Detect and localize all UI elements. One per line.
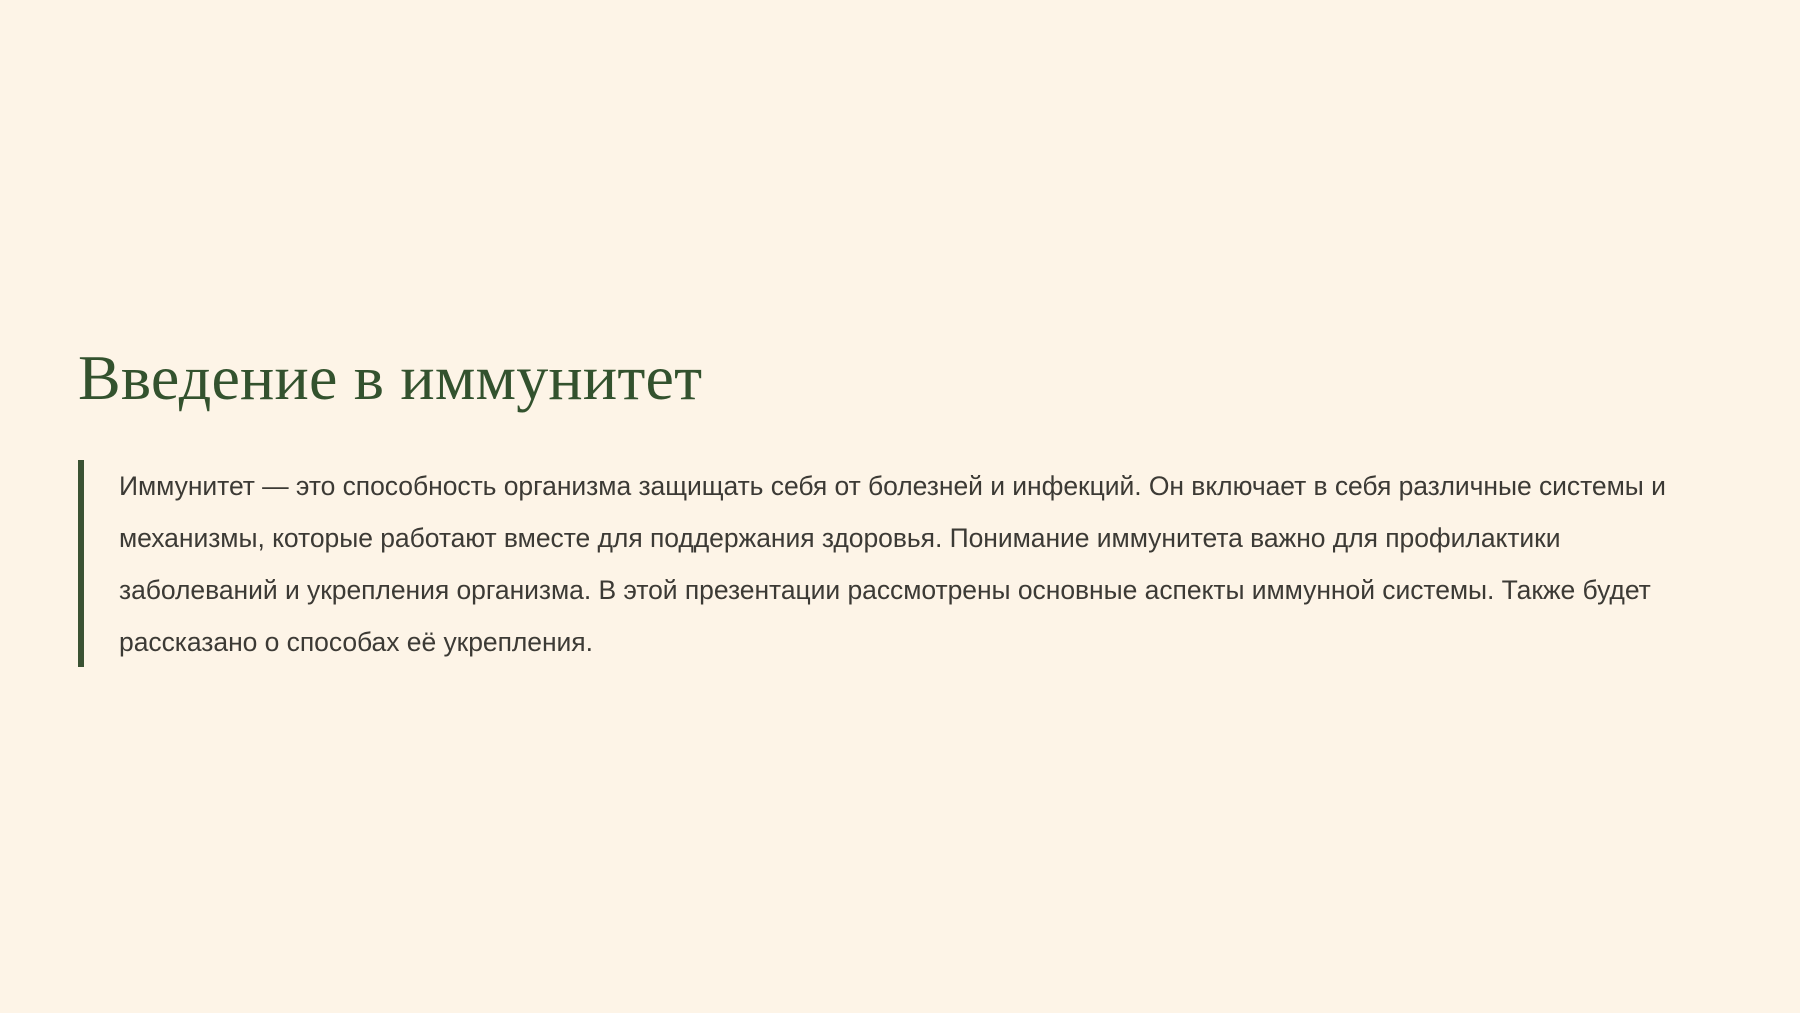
body-paragraph: Иммунитет — это способность организма за… xyxy=(119,460,1719,668)
slide-content: Введение в иммунитет Иммунитет — это спо… xyxy=(78,346,1738,668)
page-title: Введение в иммунитет xyxy=(78,346,1738,410)
body-callout-block: Иммунитет — это способность организма за… xyxy=(78,460,1738,668)
slide-canvas: Введение в иммунитет Иммунитет — это спо… xyxy=(0,0,1800,1013)
accent-bar xyxy=(78,460,84,667)
